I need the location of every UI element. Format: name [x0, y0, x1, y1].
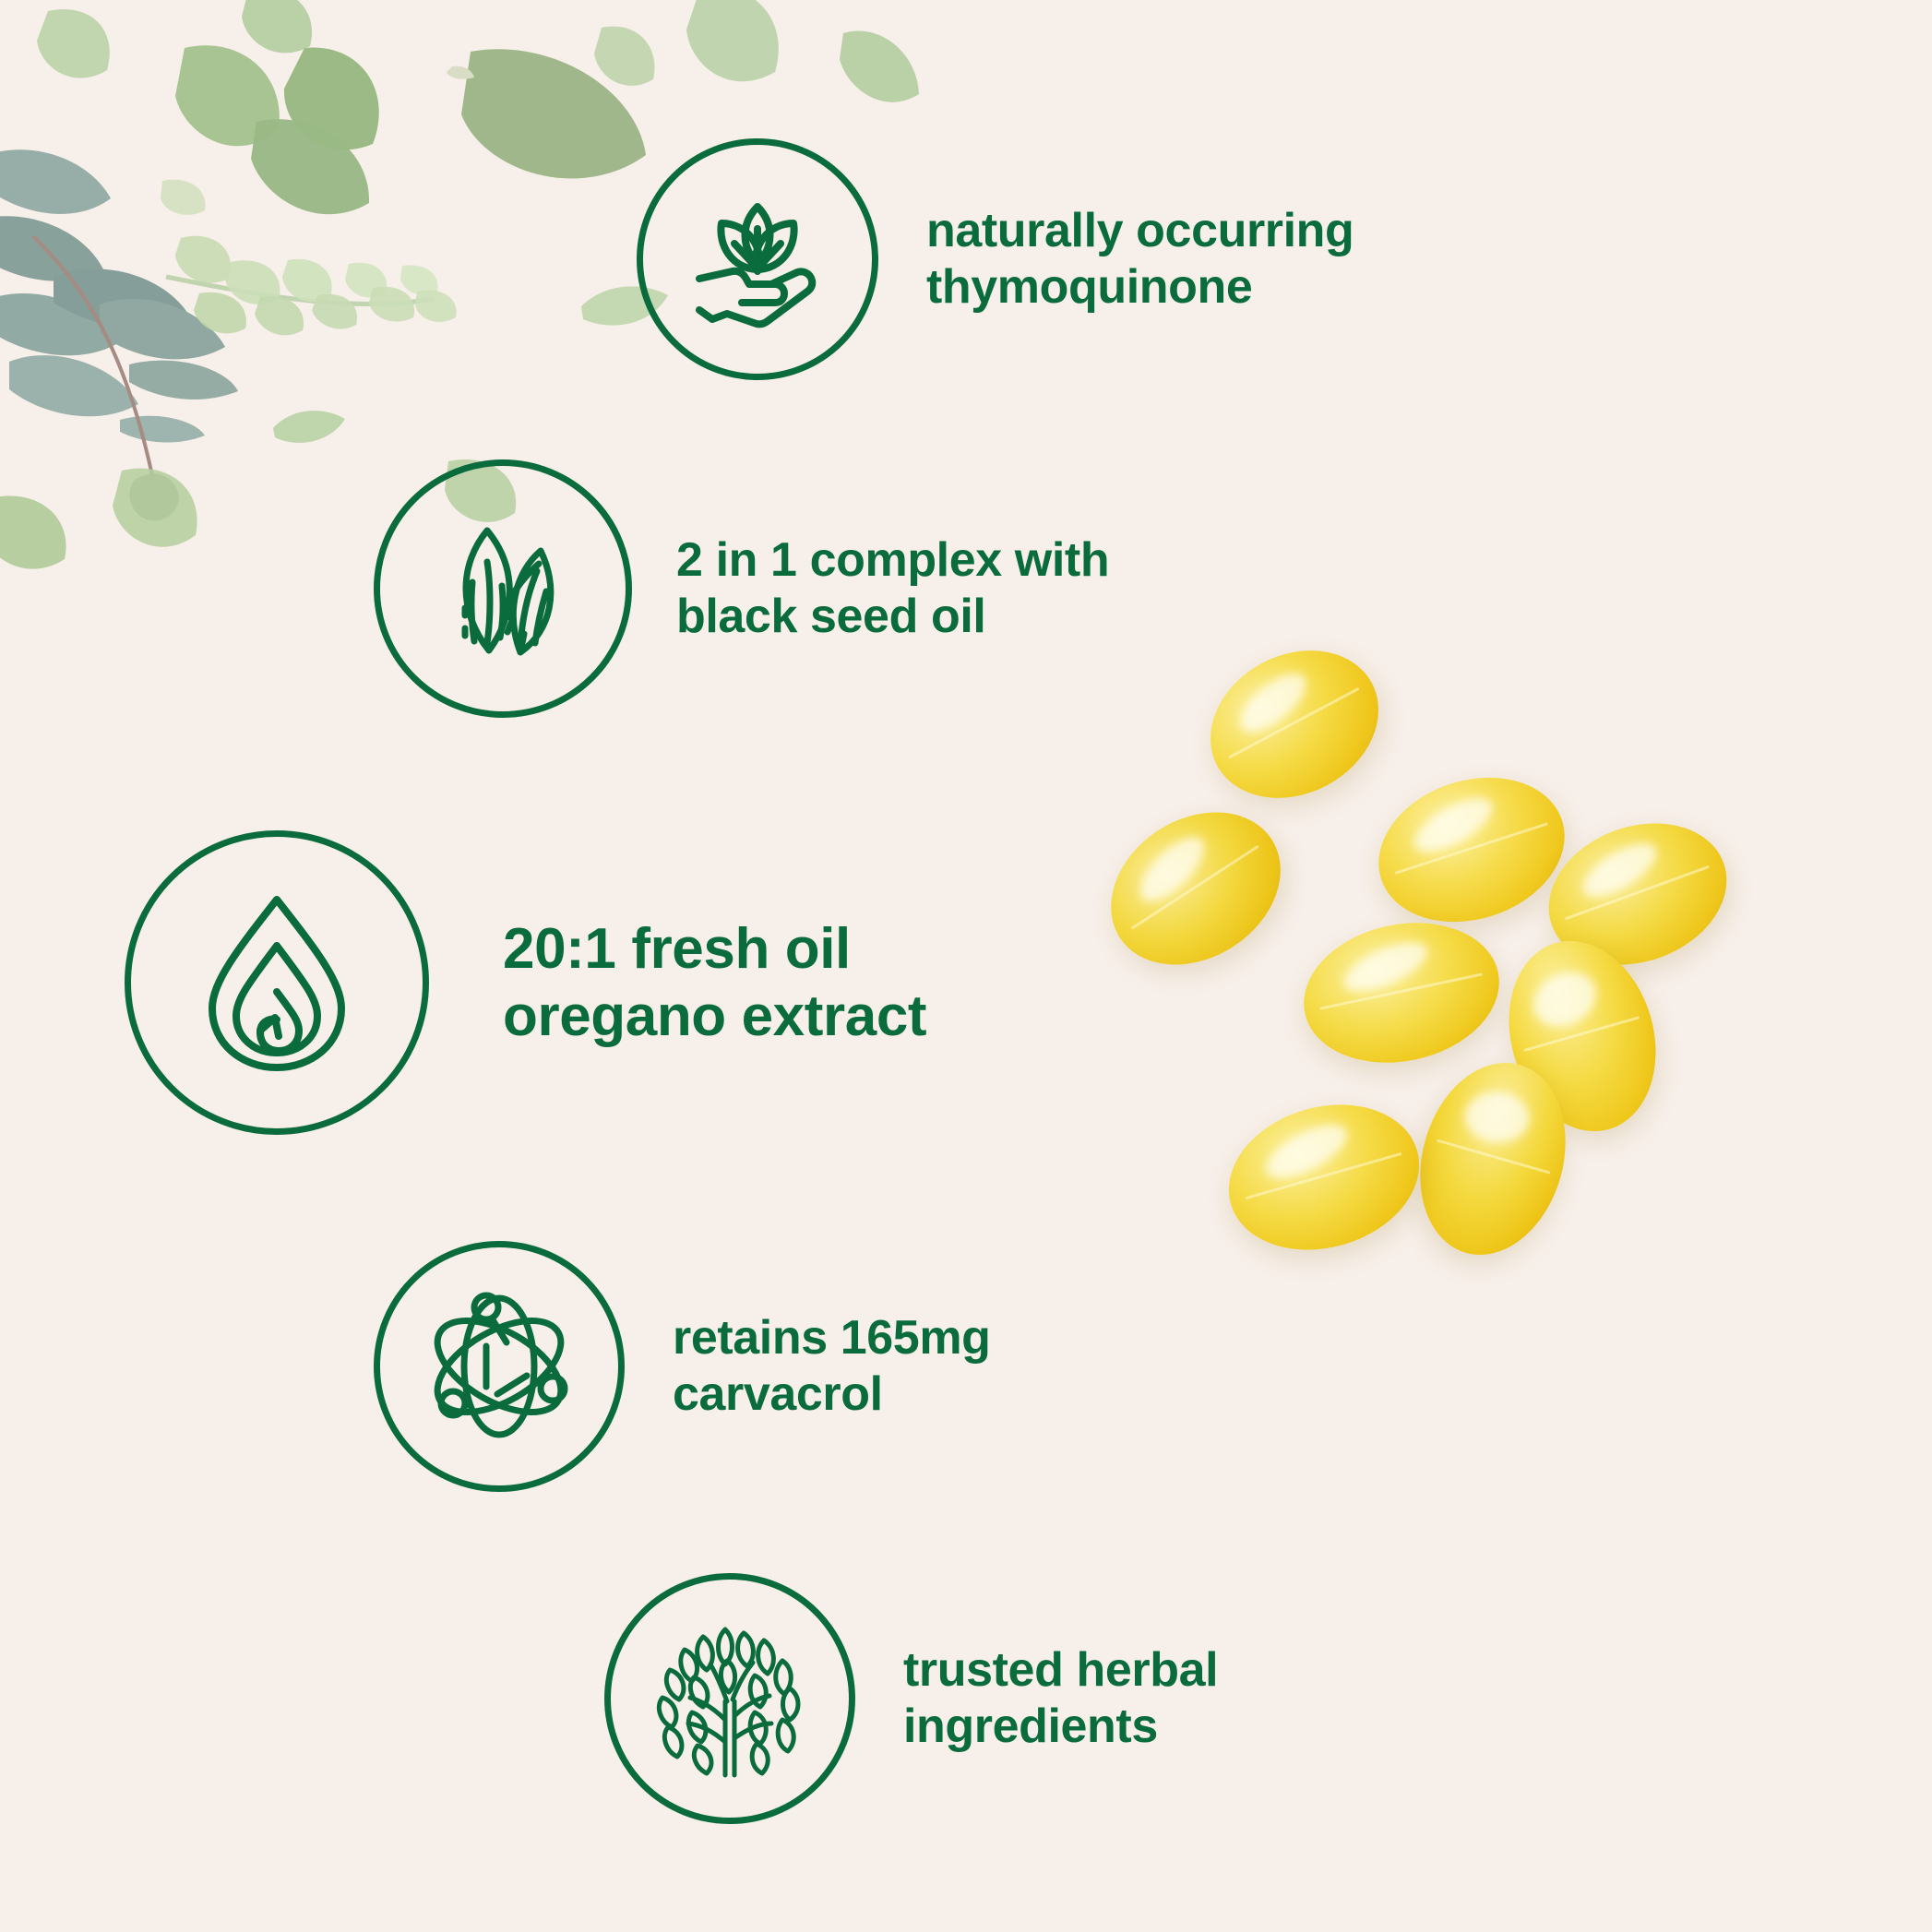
capsule-highlight	[1258, 1115, 1354, 1188]
feature-naturally-occurring-thymoquinone: naturally occurring thymoquinone	[637, 138, 1354, 380]
capsule-highlight	[1463, 1090, 1532, 1145]
oil-droplet-icon	[125, 830, 429, 1135]
seeds-icon	[374, 459, 632, 718]
plant-in-hand-icon	[637, 138, 878, 380]
feature-fresh-oil-oregano-extract: 20:1 fresh oil oregano extract	[125, 830, 926, 1135]
feature-label: trusted herbal ingredients	[903, 1642, 1218, 1756]
feature-label: retains 165mg carvacrol	[673, 1310, 991, 1424]
feature-black-seed-oil-complex: 2 in 1 complex with black seed oil	[374, 459, 1109, 718]
capsule-seam	[1437, 1139, 1551, 1174]
capsule-highlight	[1407, 788, 1501, 863]
feature-label: 20:1 fresh oil oregano extract	[503, 915, 926, 1050]
softgel-capsule-cluster	[1098, 646, 1744, 1292]
decorative-leaf-icon	[830, 18, 932, 129]
capsule-highlight	[1337, 932, 1435, 1001]
capsule-highlight	[1575, 833, 1664, 907]
capsule-highlight	[1523, 961, 1604, 1036]
softgel-capsule	[1211, 1083, 1437, 1271]
tree-icon	[604, 1573, 855, 1824]
atom-molecule-icon	[374, 1241, 625, 1492]
capsule-highlight	[1130, 827, 1214, 911]
softgel-capsule	[1082, 781, 1309, 996]
softgel-capsule	[1185, 622, 1404, 827]
decorative-leaf-icon	[268, 397, 351, 458]
feature-retains-carvacrol: retains 165mg carvacrol	[374, 1241, 991, 1492]
infographic-page: naturally occurring thymoquinone 2 in 1 …	[0, 0, 1932, 1932]
feature-label: naturally occurring thymoquinone	[926, 203, 1354, 316]
feature-label: 2 in 1 complex with black seed oil	[676, 532, 1109, 646]
softgel-capsule	[1291, 905, 1512, 1079]
capsule-highlight	[1231, 663, 1316, 743]
feature-trusted-herbal-ingredients: trusted herbal ingredients	[604, 1573, 1218, 1824]
